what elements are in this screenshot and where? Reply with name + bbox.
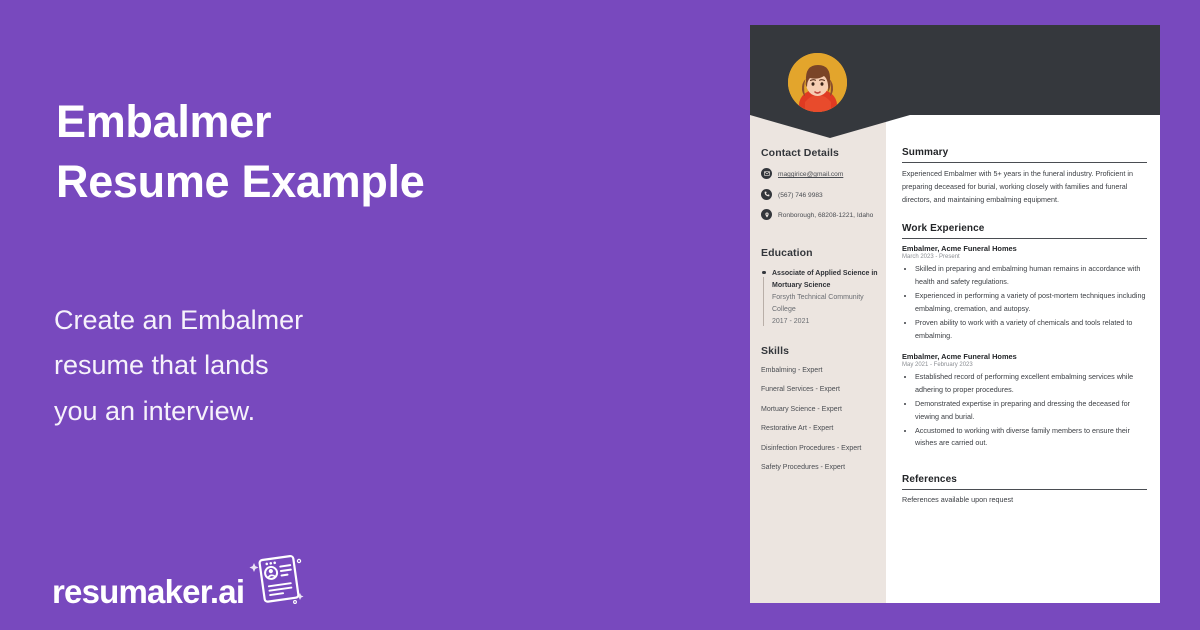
- logo-wordmark: resumaker.ai: [52, 575, 244, 608]
- job-bullet: Experienced in performing a variety of p…: [915, 290, 1147, 316]
- contact-item-phone[interactable]: (567) 746 9983: [761, 189, 881, 202]
- avatar: [788, 53, 847, 112]
- education-entry: Associate of Applied Science in Mortuary…: [761, 268, 881, 328]
- references-heading: References: [902, 474, 1147, 490]
- location-pin-icon: [761, 209, 772, 220]
- resumaker-logo[interactable]: resumaker.ai: [52, 552, 304, 608]
- resume-sidebar-content: Contact Details maggirice@gmail.com (567…: [761, 147, 881, 483]
- page-title: Embalmer Resume Example: [56, 92, 676, 212]
- job-bullet: Skilled in preparing and embalming human…: [915, 263, 1147, 289]
- job-title: Embalmer, Acme Funeral Homes: [902, 244, 1147, 253]
- job-bullet-list: Skilled in preparing and embalming human…: [902, 263, 1147, 342]
- contact-item-location[interactable]: Ronborough, 68208-1221, Idaho: [761, 209, 881, 222]
- skill-item: Mortuary Science - Expert: [761, 405, 881, 416]
- job-bullet: Accustomed to working with diverse famil…: [915, 425, 1147, 451]
- skill-item: Restorative Art - Expert: [761, 424, 881, 435]
- skill-item: Funeral Services - Expert: [761, 385, 881, 396]
- promo-subtitle: Create an Embalmer resume that lands you…: [54, 298, 654, 434]
- education-school: Forsyth Technical Community College: [772, 292, 881, 316]
- education-years: 2017 - 2021: [772, 316, 881, 328]
- job-bullet: Established record of performing excelle…: [915, 371, 1147, 397]
- contact-item-email[interactable]: maggirice@gmail.com: [761, 168, 881, 181]
- resume-main-content: Summary Experienced Embalmer with 5+ yea…: [902, 147, 1147, 504]
- timeline-line: [763, 277, 764, 326]
- job-dates: March 2023 - Present: [902, 254, 1147, 260]
- promo-panel: Embalmer Resume Example Create an Embalm…: [0, 0, 750, 630]
- skills-heading: Skills: [761, 345, 881, 357]
- work-experience-entry: Embalmer, Acme Funeral Homes March 2023 …: [902, 244, 1147, 342]
- education-degree: Associate of Applied Science in Mortuary…: [772, 268, 881, 292]
- contact-phone-text: (567) 746 9983: [778, 189, 823, 202]
- education-heading: Education: [761, 247, 881, 259]
- work-experience-heading: Work Experience: [902, 223, 1147, 239]
- skill-item: Disinfection Procedures - Expert: [761, 444, 881, 455]
- job-dates: May 2021 - February 2023: [902, 362, 1147, 368]
- summary-text: Experienced Embalmer with 5+ years in th…: [902, 168, 1147, 206]
- work-experience-entry: Embalmer, Acme Funeral Homes May 2021 - …: [902, 352, 1147, 450]
- skill-item: Embalming - Expert: [761, 366, 881, 377]
- education-timeline-marker: [761, 268, 770, 328]
- resume-preview-card[interactable]: Maggi Rice Embalmer Contact Details magg…: [750, 25, 1160, 603]
- bullet-dot-icon: [762, 271, 766, 275]
- references-text: References available upon request: [902, 495, 1147, 504]
- resume-document-icon: [248, 552, 304, 606]
- skill-item: Safety Procedures - Expert: [761, 463, 881, 474]
- contact-details-heading: Contact Details: [761, 147, 881, 159]
- contact-location-text: Ronborough, 68208-1221, Idaho: [778, 209, 873, 222]
- job-bullet: Proven ability to work with a variety of…: [915, 317, 1147, 343]
- phone-icon: [761, 189, 772, 200]
- job-bullet-list: Established record of performing excelle…: [902, 371, 1147, 450]
- envelope-icon: [761, 168, 772, 179]
- job-title: Embalmer, Acme Funeral Homes: [902, 352, 1147, 361]
- contact-email-text: maggirice@gmail.com: [778, 168, 843, 181]
- job-bullet: Demonstrated expertise in preparing and …: [915, 398, 1147, 424]
- summary-heading: Summary: [902, 147, 1147, 163]
